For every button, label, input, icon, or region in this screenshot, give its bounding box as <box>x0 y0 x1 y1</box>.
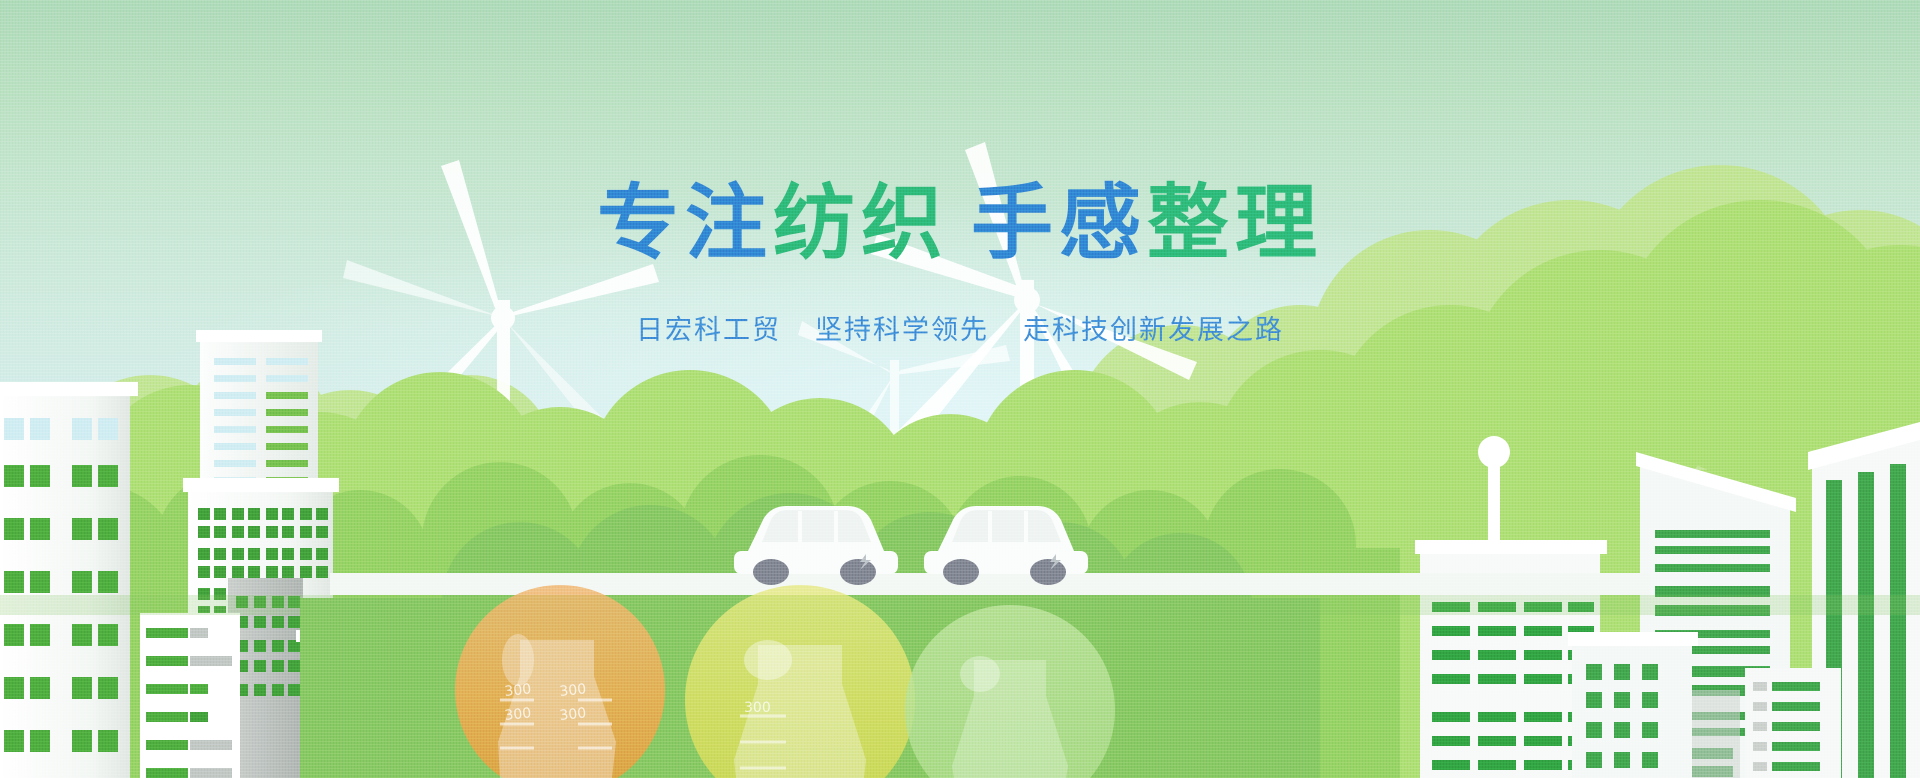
lab-flask-green <box>905 605 1115 778</box>
hero-banner: 300 300 300 300 300 专注纺织手感整理 <box>0 0 1920 778</box>
page-subtitle: 日宏科工贸坚持科学领先走科技创新发展之路 <box>0 308 1920 347</box>
subtitle-part-3: 走科技创新发展之路 <box>1023 315 1284 345</box>
page-title: 专注纺织手感整理 <box>0 183 1920 265</box>
title-segment-3: 手感 <box>971 178 1147 269</box>
lab-flask-orange: 300 300 300 300 <box>455 585 665 778</box>
flask-label-orange-right-1: 300 <box>559 681 587 700</box>
lab-flask-group: 300 300 300 300 300 <box>0 0 1920 778</box>
title-segment-1: 专注 <box>597 178 773 269</box>
subtitle-part-2: 坚持科学领先 <box>815 315 989 345</box>
flask-label-orange-right-2: 300 <box>559 705 587 724</box>
title-segment-2: 纺织 <box>773 178 949 269</box>
lab-flask-yellow: 300 <box>685 585 915 778</box>
flask-label-orange-left-2: 300 <box>504 705 532 724</box>
subtitle-part-1: 日宏科工贸 <box>636 315 781 345</box>
flask-label-yellow: 300 <box>744 700 771 716</box>
title-segment-4: 整理 <box>1147 178 1323 269</box>
